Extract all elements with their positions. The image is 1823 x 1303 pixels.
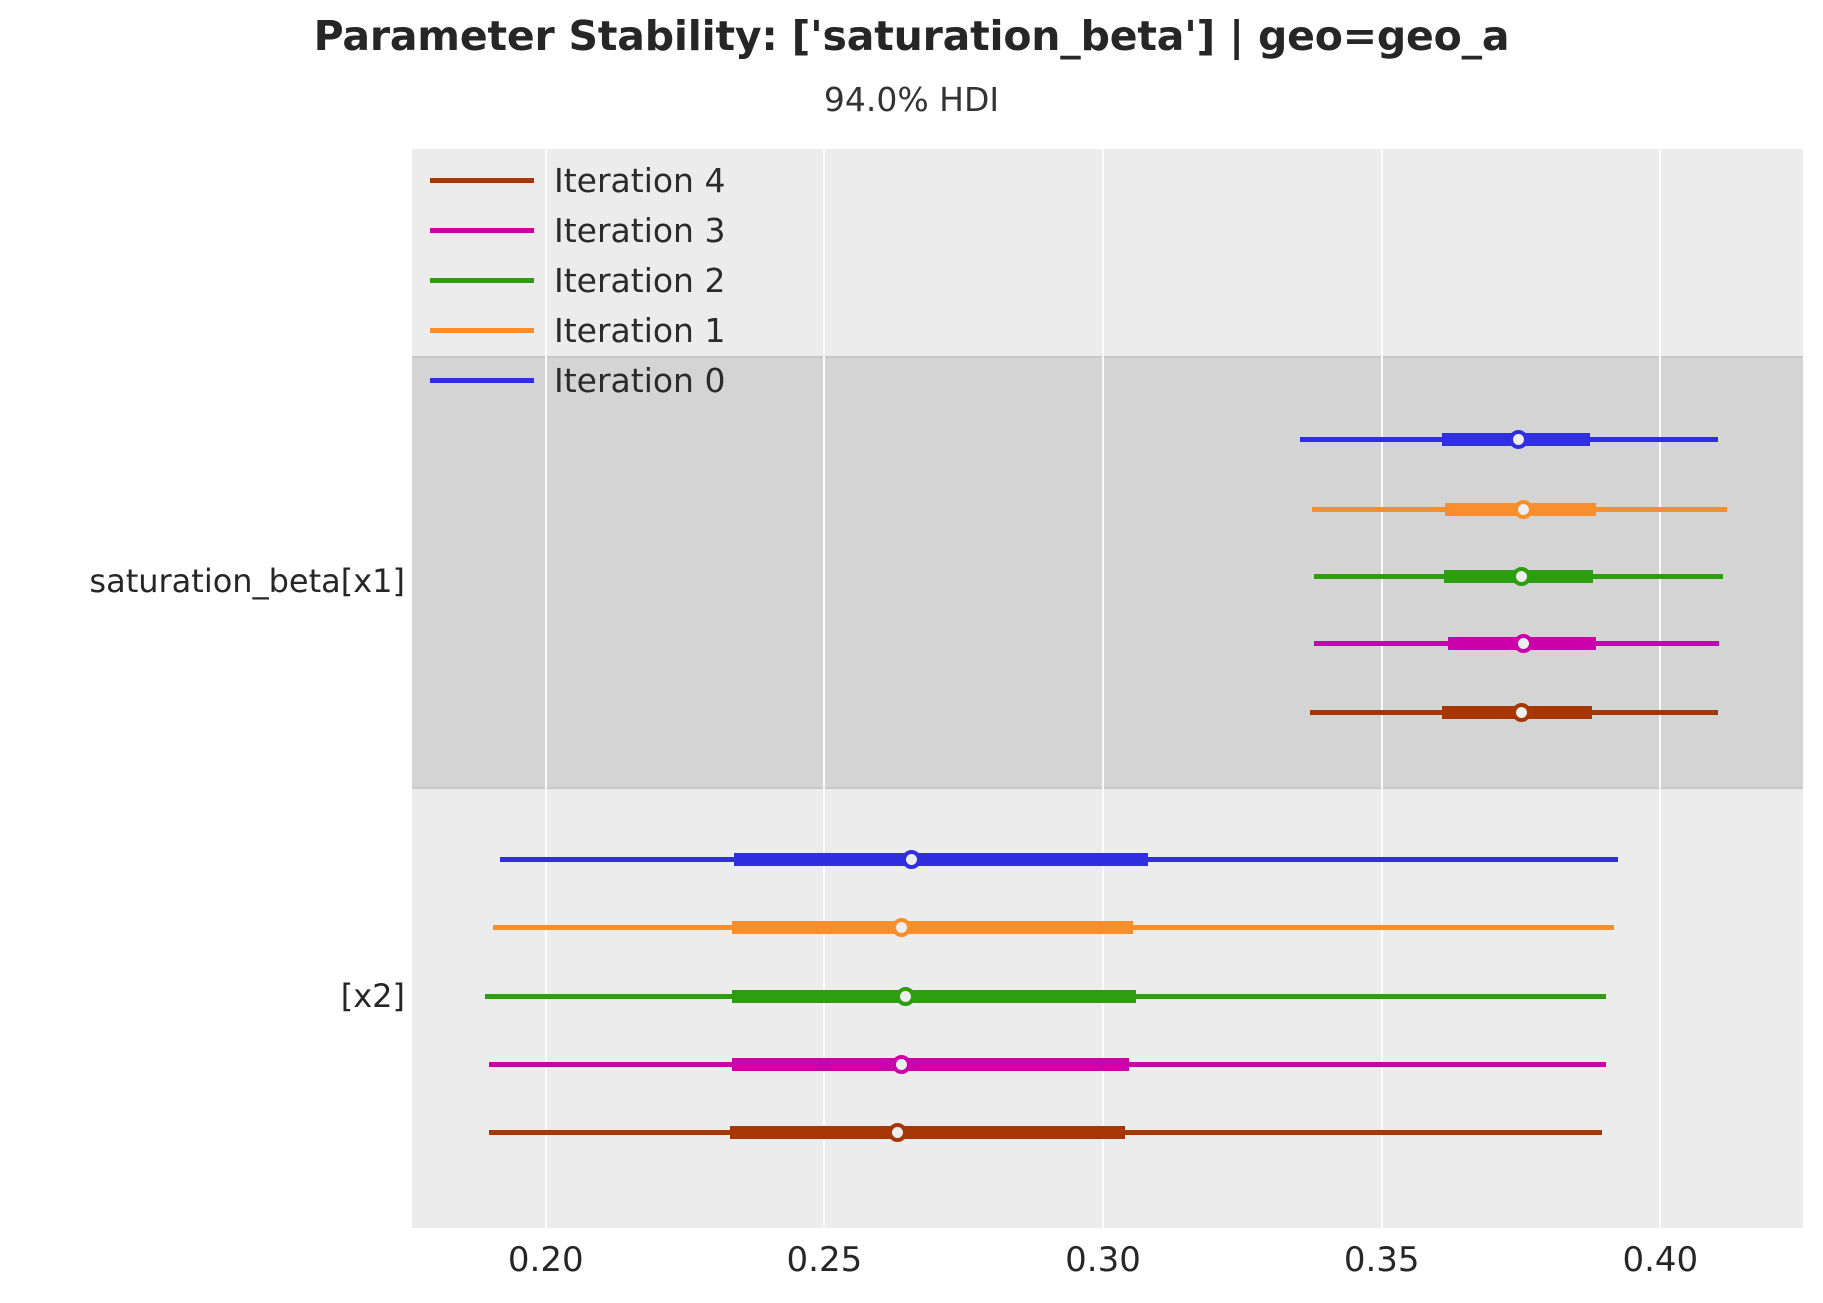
y-axis-tick-label: saturation_beta[x1] xyxy=(89,562,405,600)
hdi-interval-row xyxy=(412,981,1803,1011)
hdi-iqr-line xyxy=(732,990,1137,1003)
chart-subtitle: 94.0% HDI xyxy=(0,80,1823,119)
legend-item-iteration-4[interactable]: Iteration 4 xyxy=(430,155,740,205)
legend-item-iteration-0[interactable]: Iteration 0 xyxy=(430,355,740,405)
legend: Iteration 4Iteration 3Iteration 2Iterati… xyxy=(430,155,740,405)
hdi-interval-row xyxy=(412,912,1803,942)
hdi-interval-row xyxy=(412,561,1803,591)
x-axis-tick-label: 0.25 xyxy=(787,1240,863,1280)
hdi-interval-row xyxy=(412,494,1803,524)
forest-plot-area: Iteration 4Iteration 3Iteration 2Iterati… xyxy=(412,149,1803,1228)
hdi-iqr-line xyxy=(730,1126,1125,1139)
point-estimate-marker xyxy=(1512,567,1531,586)
hdi-iqr-line xyxy=(734,853,1148,866)
point-estimate-marker xyxy=(1512,703,1531,722)
page-title: Parameter Stability: ['saturation_beta']… xyxy=(0,12,1823,60)
hdi-interval-row xyxy=(412,628,1803,658)
x-axis-tick-label: 0.20 xyxy=(508,1240,584,1280)
legend-line-icon xyxy=(430,328,534,333)
legend-line-icon xyxy=(430,278,534,283)
hdi-interval-row xyxy=(412,1049,1803,1079)
x-axis-tick-label: 0.30 xyxy=(1065,1240,1141,1280)
point-estimate-marker xyxy=(902,850,921,869)
y-axis-tick-label: [x2] xyxy=(341,977,405,1015)
hdi-iqr-line xyxy=(732,1058,1129,1071)
hdi-interval-row xyxy=(412,697,1803,727)
legend-line-icon xyxy=(430,378,534,383)
legend-item-label: Iteration 0 xyxy=(554,364,725,397)
hdi-interval-row xyxy=(412,1117,1803,1147)
legend-item-label: Iteration 2 xyxy=(554,264,725,297)
legend-item-iteration-3[interactable]: Iteration 3 xyxy=(430,205,740,255)
legend-item-iteration-2[interactable]: Iteration 2 xyxy=(430,255,740,305)
point-estimate-marker xyxy=(892,1055,911,1074)
x-axis-tick-label: 0.40 xyxy=(1622,1240,1698,1280)
point-estimate-marker xyxy=(892,918,911,937)
x-axis-tick-label: 0.35 xyxy=(1344,1240,1420,1280)
point-estimate-marker xyxy=(896,987,915,1006)
hdi-interval-row xyxy=(412,844,1803,874)
legend-item-label: Iteration 1 xyxy=(554,314,725,347)
legend-item-label: Iteration 4 xyxy=(554,164,725,197)
legend-item-iteration-1[interactable]: Iteration 1 xyxy=(430,305,740,355)
point-estimate-marker xyxy=(1514,500,1533,519)
point-estimate-marker xyxy=(888,1123,907,1142)
legend-line-icon xyxy=(430,228,534,233)
legend-line-icon xyxy=(430,178,534,183)
point-estimate-marker xyxy=(1509,430,1528,449)
legend-item-label: Iteration 3 xyxy=(554,214,725,247)
hdi-interval-row xyxy=(412,424,1803,454)
point-estimate-marker xyxy=(1514,634,1533,653)
hdi-iqr-line xyxy=(732,921,1133,934)
